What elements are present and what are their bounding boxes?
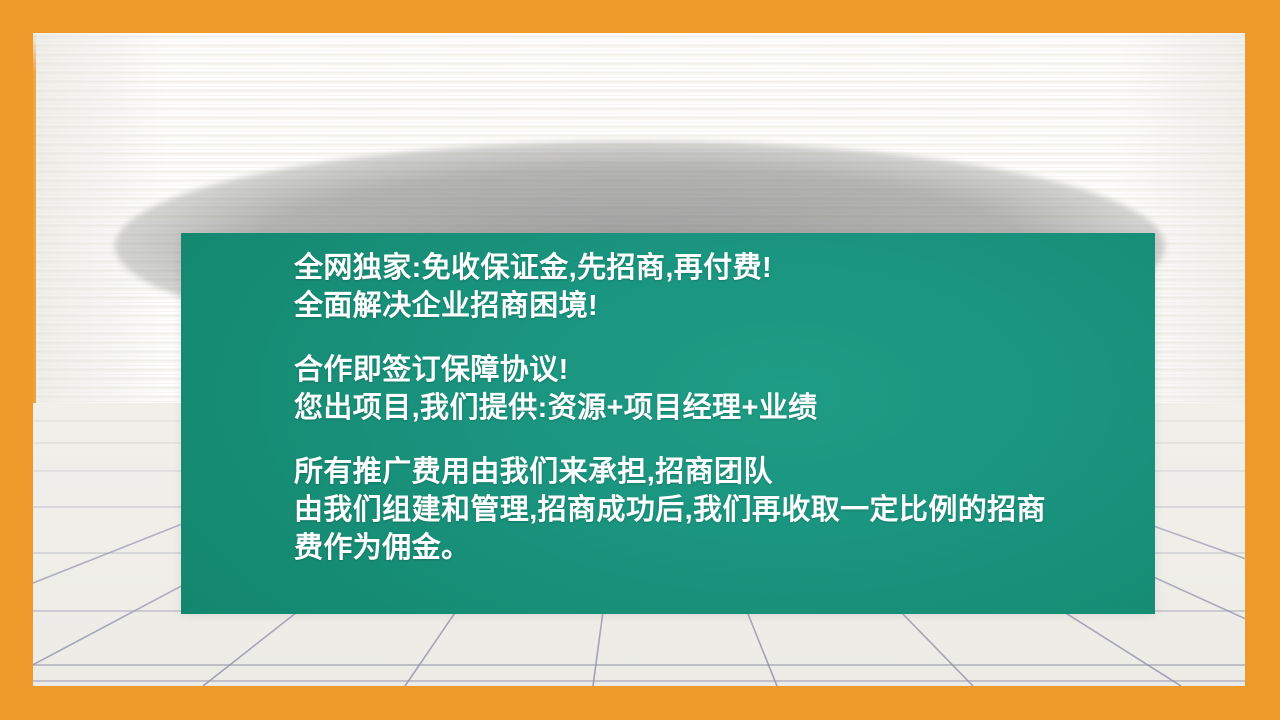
room-scene: 全网独家:免收保证金,先招商,再付费! 全面解决企业招商困境! 合作即签订保障协… bbox=[33, 33, 1245, 686]
message-line: 全面解决企业招商困境! bbox=[294, 287, 1145, 325]
message-line: 全网独家:免收保证金,先招商,再付费! bbox=[294, 249, 1145, 287]
message-line: 您出项目,我们提供:资源+项目经理+业绩 bbox=[294, 389, 1145, 427]
message-paragraph-1: 全网独家:免收保证金,先招商,再付费! 全面解决企业招商困境! bbox=[294, 249, 1145, 325]
message-panel: 全网独家:免收保证金,先招商,再付费! 全面解决企业招商困境! 合作即签订保障协… bbox=[181, 233, 1155, 614]
message-line: 所有推广费用由我们来承担,招商团队 bbox=[294, 453, 1145, 491]
message-panel-content: 全网独家:免收保证金,先招商,再付费! 全面解决企业招商困境! 合作即签订保障协… bbox=[294, 249, 1145, 608]
message-line: 合作即签订保障协议! bbox=[294, 351, 1145, 389]
message-paragraph-3: 所有推广费用由我们来承担,招商团队 由我们组建和管理,招商成功后,我们再收取一定… bbox=[294, 453, 1145, 567]
message-paragraph-2: 合作即签订保障协议! 您出项目,我们提供:资源+项目经理+业绩 bbox=[294, 351, 1145, 427]
message-line: 由我们组建和管理,招商成功后,我们再收取一定比例的招商 bbox=[294, 491, 1145, 529]
slide-canvas: 全网独家:免收保证金,先招商,再付费! 全面解决企业招商困境! 合作即签订保障协… bbox=[0, 0, 1280, 720]
floor-seam-line bbox=[33, 664, 1245, 666]
message-line: 费作为佣金。 bbox=[294, 529, 1145, 567]
